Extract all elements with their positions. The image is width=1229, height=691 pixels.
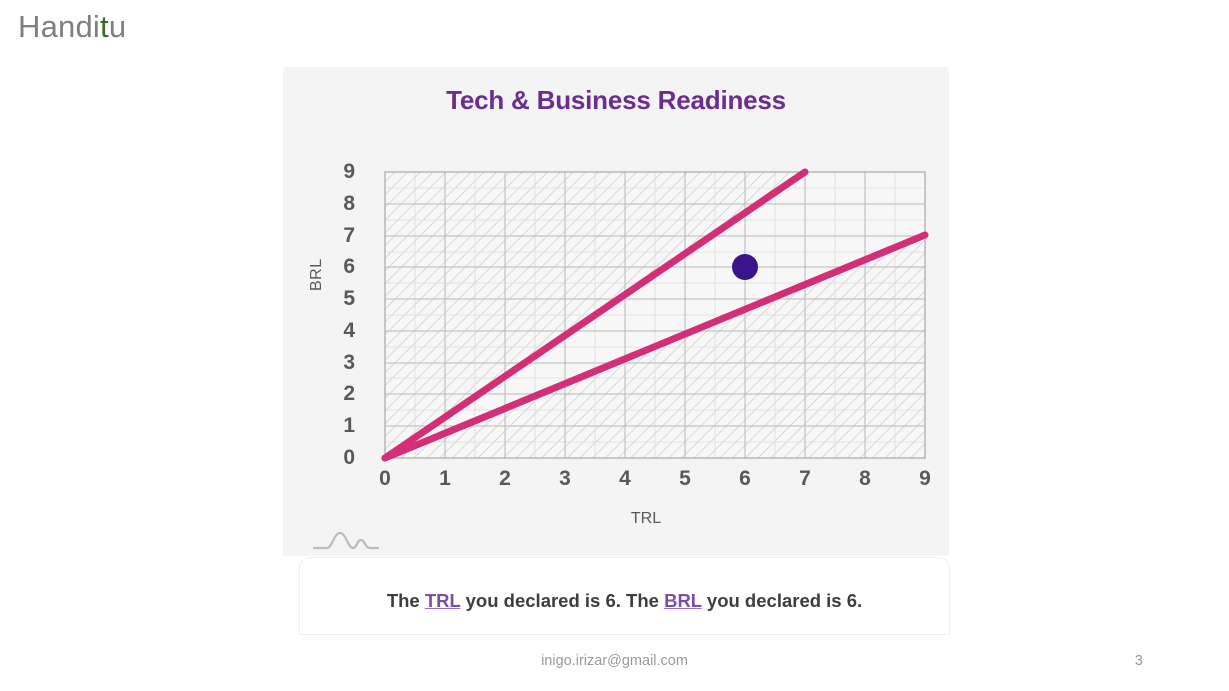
x-tick-5: 5 xyxy=(673,467,697,491)
declaration-text: The TRL you declared is 6. The BRL you d… xyxy=(300,590,949,612)
y-tick-9: 9 xyxy=(331,160,355,184)
y-tick-7: 7 xyxy=(331,224,355,248)
declared-readiness-point[interactable] xyxy=(732,254,758,280)
brand-accent-letter: t xyxy=(100,9,109,44)
y-axis-title: BRL xyxy=(308,258,326,291)
x-tick-0: 0 xyxy=(373,467,397,491)
declaration-middle: you declared is 6. The xyxy=(461,590,665,611)
chart-plot-area: 9 8 7 6 5 4 3 2 1 0 0 1 2 3 4 5 6 7 8 9 … xyxy=(283,67,949,556)
x-tick-2: 2 xyxy=(493,467,517,491)
x-tick-7: 7 xyxy=(793,467,817,491)
y-tick-6: 6 xyxy=(331,255,355,279)
brand-suffix: u xyxy=(109,9,126,44)
y-tick-3: 3 xyxy=(331,351,355,375)
x-tick-6: 6 xyxy=(733,467,757,491)
brl-link[interactable]: BRL xyxy=(664,590,702,611)
x-tick-9: 9 xyxy=(913,467,937,491)
declaration-card: The TRL you declared is 6. The BRL you d… xyxy=(300,558,949,634)
chart-card: Tech & Business Readiness xyxy=(283,67,949,556)
x-tick-3: 3 xyxy=(553,467,577,491)
x-tick-1: 1 xyxy=(433,467,457,491)
wave-curve-icon xyxy=(313,529,379,553)
y-tick-2: 2 xyxy=(331,382,355,406)
y-tick-4: 4 xyxy=(331,319,355,343)
brand-prefix: Handi xyxy=(18,9,100,44)
declaration-suffix: you declared is 6. xyxy=(702,590,862,611)
y-tick-1: 1 xyxy=(331,414,355,438)
declaration-prefix: The xyxy=(387,590,425,611)
x-tick-4: 4 xyxy=(613,467,637,491)
x-tick-8: 8 xyxy=(853,467,877,491)
y-tick-0: 0 xyxy=(331,446,355,470)
y-tick-8: 8 xyxy=(331,192,355,216)
y-tick-5: 5 xyxy=(331,287,355,311)
slide-brand-title: Handitu xyxy=(18,9,126,45)
footer-email: inigo.irizar@gmail.com xyxy=(0,653,1229,669)
trl-link[interactable]: TRL xyxy=(425,590,461,611)
footer-page-number: 3 xyxy=(1135,653,1143,669)
x-axis-title: TRL xyxy=(283,510,949,528)
